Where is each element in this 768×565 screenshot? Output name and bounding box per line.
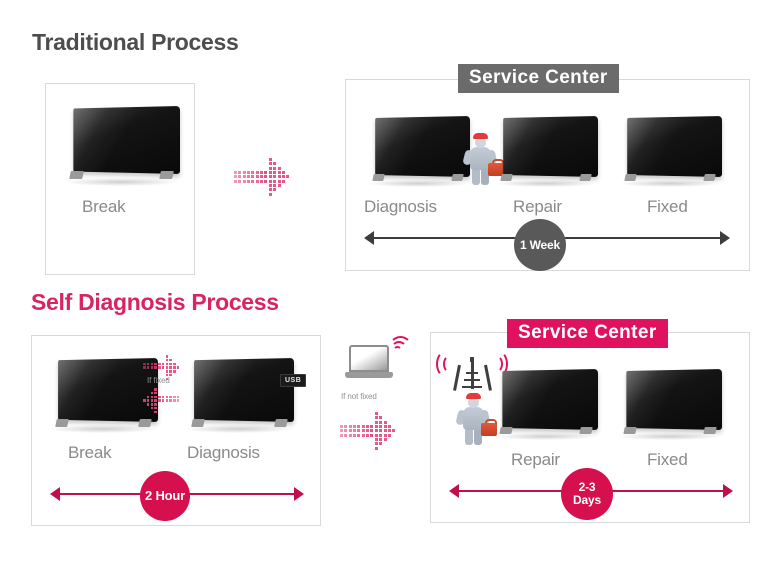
laptop-base <box>345 372 393 378</box>
tv-label-break: Break <box>68 443 111 463</box>
pixel-arrow-right-icon <box>234 158 289 194</box>
duration-badge-two-hour: 2 Hour <box>140 471 190 521</box>
tv-diagnosis <box>366 116 470 198</box>
tv-shadow <box>50 425 156 433</box>
tv-screen <box>375 116 470 177</box>
arrow-head-right-icon <box>723 484 733 498</box>
tv-shadow <box>495 433 596 440</box>
tv-screen <box>626 369 722 430</box>
label-if-not-fixed: If not fixed <box>341 392 377 401</box>
service-center-ribbon-traditional: Service Center <box>458 64 619 93</box>
service-center-ribbon-self-diagnosis: Service Center <box>507 319 668 348</box>
tv-screen <box>627 116 722 177</box>
page-title-self-diagnosis-process: Self Diagnosis Process <box>31 289 279 316</box>
tv-screen <box>194 358 294 422</box>
laptop-lid <box>349 345 389 372</box>
page-title-traditional-process: Traditional Process <box>32 29 239 56</box>
arrow-head-right-icon <box>720 231 730 245</box>
tv-label-diagnosis: Diagnosis <box>364 197 437 217</box>
duration-badge-two-three-days: 2-3 Days <box>561 468 613 520</box>
panel-break: Break <box>45 83 195 275</box>
tv-repair <box>493 369 598 451</box>
tv-screen <box>503 116 598 177</box>
duration-badge-one-week: 1 Week <box>514 219 566 271</box>
pixel-arrow-left-icon <box>143 388 185 408</box>
tv-break <box>48 358 158 444</box>
tv-diagnosis <box>184 358 294 444</box>
tv-fixed <box>617 369 722 451</box>
usb-badge: USB <box>280 374 306 387</box>
tv-break <box>62 106 180 198</box>
duration-badge-line-2: Days <box>573 494 601 507</box>
tv-label-fixed: Fixed <box>647 197 688 217</box>
tv-screen <box>502 369 598 430</box>
tv-screen <box>73 106 180 174</box>
tv-label-repair: Repair <box>511 450 560 470</box>
laptop-wifi-icon <box>345 345 393 379</box>
pixel-arrow-right-icon <box>340 412 395 444</box>
pixel-arrow-right-icon <box>143 355 185 375</box>
tv-label-fixed: Fixed <box>647 450 688 470</box>
tv-fixed <box>618 116 722 198</box>
tv-label-repair: Repair <box>513 197 562 217</box>
label-if-fixed: If fixed <box>147 376 170 385</box>
signal-wave-left-icon <box>436 351 454 377</box>
tv-shadow <box>64 178 177 186</box>
tv-label-break: Break <box>82 197 125 217</box>
diagram-canvas: Traditional Process Break Diagnosis <box>0 0 768 565</box>
tv-shadow <box>619 433 720 440</box>
arrow-head-right-icon <box>294 487 304 501</box>
tv-shadow <box>186 425 292 433</box>
wifi-signal-icon <box>393 334 415 354</box>
tv-shadow <box>368 180 468 187</box>
tv-repair <box>494 116 598 198</box>
antenna-tower-icon <box>453 355 491 395</box>
tv-shadow <box>620 180 720 187</box>
tv-label-diagnosis: Diagnosis <box>187 443 260 463</box>
tv-shadow <box>496 180 596 187</box>
